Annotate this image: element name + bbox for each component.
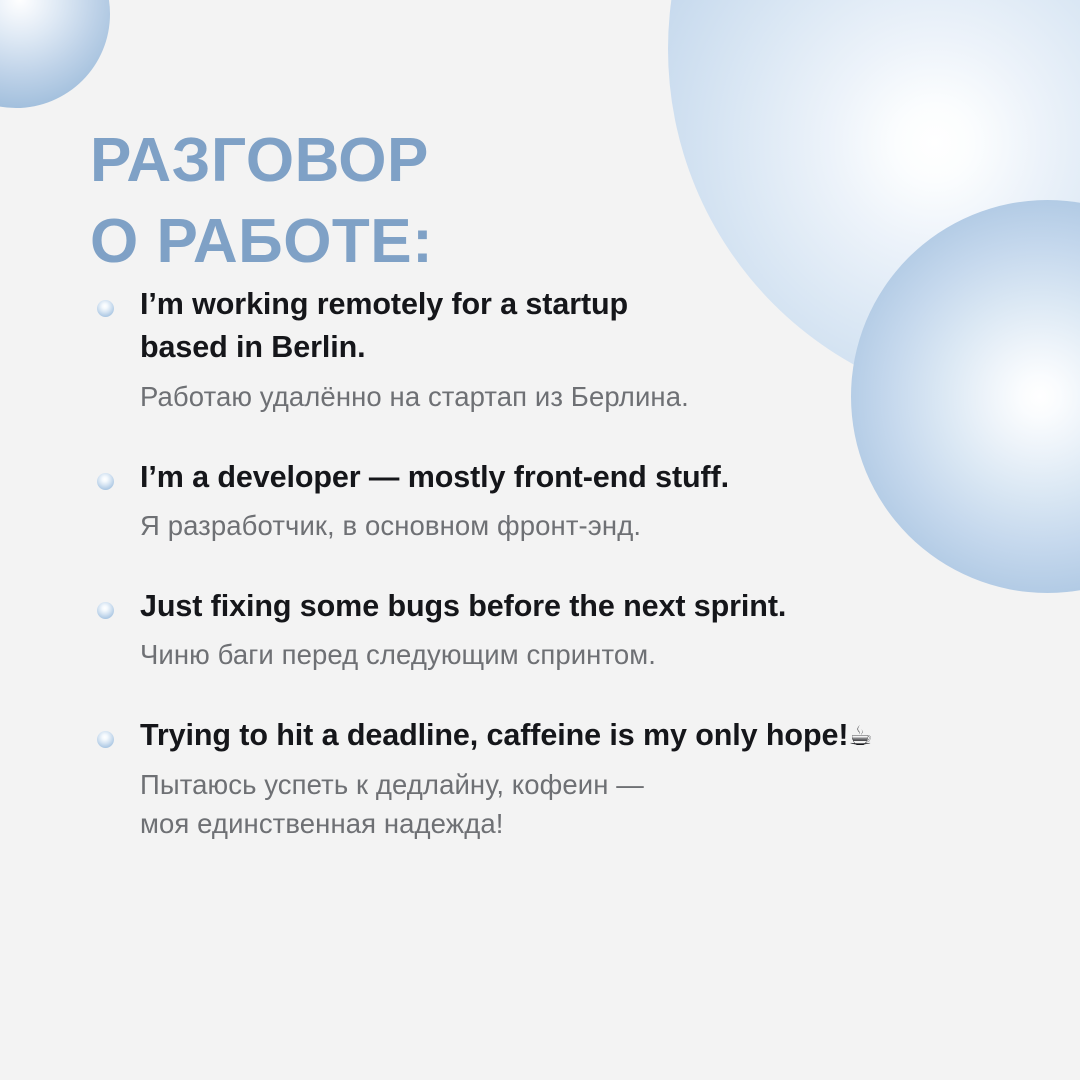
list-item: I’m a developer — mostly front-end stuff… [90, 456, 990, 545]
bullet-sphere-icon [97, 602, 114, 619]
list-item: Just fixing some bugs before the next sp… [90, 585, 990, 674]
phrase-russian: Пытаюсь успеть к дедлайну, кофеин — моя … [140, 765, 990, 843]
page-title: РАЗГОВОР О РАБОТЕ: [90, 120, 650, 284]
phrase-list: I’m working remotely for a startup based… [90, 283, 990, 843]
list-item: I’m working remotely for a startup based… [90, 283, 990, 416]
list-item: Trying to hit a deadline, caffeine is my… [90, 714, 990, 842]
phrase-english: Trying to hit a deadline, caffeine is my… [140, 714, 990, 757]
decorative-sphere-top-left [0, 0, 110, 108]
phrase-russian: Работаю удалённо на стартап из Берлина. [140, 377, 990, 416]
bullet-sphere-icon [97, 473, 114, 490]
poster-canvas: РАЗГОВОР О РАБОТЕ: I’m working remotely … [0, 0, 1080, 1080]
phrase-english-text: Trying to hit a deadline, caffeine is my… [140, 718, 848, 752]
bullet-sphere-icon [97, 300, 114, 317]
phrase-russian: Я разработчик, в основном фронт-энд. [140, 506, 990, 545]
bullet-sphere-icon [97, 731, 114, 748]
phrase-english: Just fixing some bugs before the next sp… [140, 585, 990, 628]
hot-beverage-icon: ☕ [848, 721, 872, 752]
phrase-russian: Чиню баги перед следующим спринтом. [140, 635, 990, 674]
phrase-english: I’m a developer — mostly front-end stuff… [140, 456, 990, 499]
phrase-english: I’m working remotely for a startup based… [140, 283, 990, 370]
